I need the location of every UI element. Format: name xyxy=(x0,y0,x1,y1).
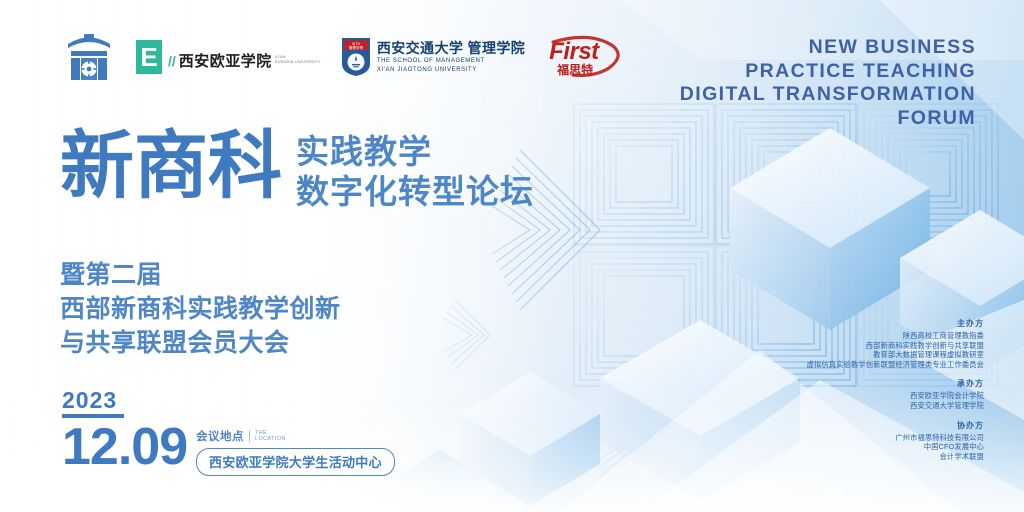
organizer-line: 虚拟仿真实验教学创新联盟经济管理类专业工作委员会 xyxy=(807,360,984,370)
organizer-line: 广州市福思特科技有限公司 xyxy=(807,433,984,443)
organizers-block: 主办方 陕西高校工商管理教指委 西部新商科实践教学创新与共享联盟 教育部大数据管… xyxy=(807,318,984,470)
date-block: 2023 12.09 xyxy=(62,388,187,473)
logo-shang-emblem xyxy=(60,30,136,84)
organizer-group-organizer: 承办方 西安欧亚学院会计学院 西安交通大学管理学院 xyxy=(807,378,984,410)
subtitle: 暨第二届 西部新商科实践教学创新 与共享联盟会员大会 xyxy=(60,258,341,360)
organizer-line: 西安交通大学管理学院 xyxy=(807,401,984,411)
location-label-cn: 会议地点 xyxy=(196,428,244,444)
first-name-cn: 福思特 xyxy=(557,61,593,78)
organizer-line: 西安欧亚学院会计学院 xyxy=(807,391,984,401)
xjtu-name-cn: 西安交通大学 管理学院 xyxy=(377,41,525,56)
poster-canvas: E // 西安欧亚学院 XI'AN EURASIA UNIVERSITY XJT… xyxy=(0,0,1024,512)
eurasia-name-en: XI'AN EURASIA UNIVERSITY xyxy=(275,54,321,64)
organizer-group-coorganizer: 协办方 广州市福思特科技有限公司 中国CFO发展中心 会计学术联盟 xyxy=(807,420,984,462)
xjtu-name-en-university: XI'AN JIAOTONG UNIVERSITY xyxy=(377,66,525,74)
main-title-secondary-line-1: 实践教学 xyxy=(296,132,534,172)
organizer-line: 会计学术联盟 xyxy=(807,452,984,462)
xjtu-name-en-school: THE SCHOOL OF MANAGEMENT xyxy=(377,57,525,65)
english-title: NEW BUSINESS PRACTICE TEACHING DIGITAL T… xyxy=(680,36,976,130)
date-year: 2023 xyxy=(62,388,187,412)
main-title-primary: 新商科 xyxy=(60,128,282,204)
svg-text:管理学院: 管理学院 xyxy=(349,45,364,50)
logo-xjtu-school-of-management: XJTU 管理学院 西安交通大学 管理学院 THE SCHOOL OF MANA… xyxy=(341,37,525,77)
location-divider xyxy=(249,430,250,442)
main-title: 新商科 实践教学 数字化转型论坛 xyxy=(60,128,534,212)
subtitle-line-1: 暨第二届 xyxy=(60,258,341,292)
subtitle-line-2: 西部新商科实践教学创新 xyxy=(60,292,341,326)
logo-xian-eurasia-university: E // 西安欧亚学院 XI'AN EURASIA UNIVERSITY xyxy=(136,40,321,74)
main-title-secondary-line-2: 数字化转型论坛 xyxy=(296,172,534,212)
eurasia-name-cn: 西安欧亚学院 xyxy=(179,54,272,70)
organizer-line: 中国CFO发展中心 xyxy=(807,442,984,452)
organizer-group-host: 主办方 陕西高校工商管理教指委 西部新商科实践教学创新与共享联盟 教育部大数据管… xyxy=(807,318,984,369)
organizer-group-coorganizer-head: 协办方 xyxy=(807,420,984,431)
organizer-line: 陕西高校工商管理教指委 xyxy=(807,331,984,341)
organizer-line: 西部新商科实践教学创新与共享联盟 xyxy=(807,341,984,351)
organizer-line: 教育部大数据管理课程虚拟教研室 xyxy=(807,350,984,360)
organizer-group-organizer-head: 承办方 xyxy=(807,378,984,389)
organizer-group-host-head: 主办方 xyxy=(807,318,984,329)
eurasia-slash-icon: // xyxy=(168,54,176,69)
english-title-line-1: NEW BUSINESS xyxy=(680,36,976,60)
location-venue-badge: 西安欧亚学院大学生活动中心 xyxy=(196,448,395,476)
location-label-en: THE LOCATION xyxy=(255,430,286,442)
english-title-line-3: DIGITAL TRANSFORMATION xyxy=(680,83,976,107)
logo-first-technology: First 福思特 xyxy=(547,34,625,80)
logo-row: E // 西安欧亚学院 XI'AN EURASIA UNIVERSITY XJT… xyxy=(60,30,625,84)
xjtu-shield-icon: XJTU 管理学院 xyxy=(341,37,371,77)
shang-emblem-icon xyxy=(60,32,118,82)
subtitle-line-3: 与共享联盟会员大会 xyxy=(60,326,341,360)
eurasia-e-mark: E xyxy=(136,40,162,74)
english-title-line-2: PRACTICE TEACHING xyxy=(680,60,976,84)
english-title-line-4: FORUM xyxy=(680,107,976,131)
date-day: 12.09 xyxy=(62,421,187,473)
location-block: 会议地点 THE LOCATION 西安欧亚学院大学生活动中心 xyxy=(196,428,395,476)
